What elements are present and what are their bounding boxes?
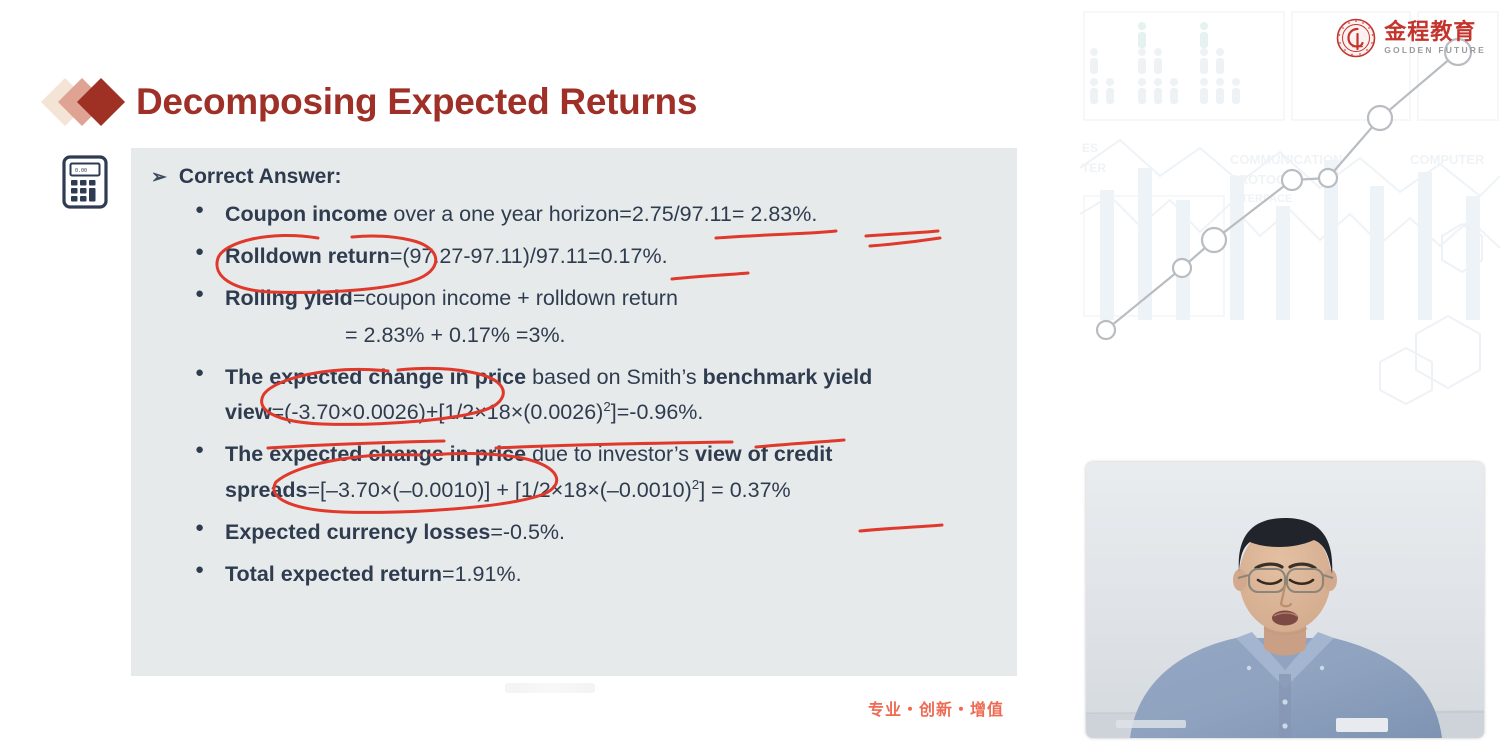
list-item-expected-change-credit: The expected change in price due to inve… — [193, 443, 1005, 502]
list-item-expected-change-benchmark: The expected change in price based on Sm… — [193, 366, 1005, 425]
list-item-coupon-income: Coupon income over a one year horizon=2.… — [193, 203, 1005, 226]
page-title: Decomposing Expected Returns — [136, 81, 697, 123]
credit-formula-line: spreads=[–3.70×(–0.0010)] + [1/2×18×(–0.… — [225, 478, 1005, 502]
bullet-lead-text: The expected change in price — [225, 442, 526, 466]
circular-seal-logo-icon — [1336, 18, 1376, 58]
footer-watermark — [505, 683, 595, 693]
formula-body: =(-3.70×0.0026)+[1/2×18×(0.0026) — [272, 400, 604, 424]
formula-lead: spreads — [225, 478, 307, 502]
logo-chinese-name: 金程教育 — [1384, 21, 1486, 43]
slide-area: Decomposing Expected Returns 0.00 ➢ Corr… — [0, 0, 1080, 750]
title-row: Decomposing Expected Returns — [48, 78, 697, 126]
bullet-rest-text: =-0.5%. — [490, 520, 565, 544]
logo-text-block: 金程教育 GOLDEN FUTURE — [1384, 21, 1486, 55]
bullet-mid-text: due to investor’s — [526, 442, 695, 466]
right-panel: COMMUNICATION PROTOCOL INTERFACE COMPUTE… — [1080, 0, 1500, 750]
list-item-expected-currency-losses: Expected currency losses=-0.5%. — [193, 521, 1005, 544]
brand-logo: 金程教育 GOLDEN FUTURE — [1336, 18, 1486, 58]
list-item-rolldown-return: Rolldown return=(97.27-97.11)/97.11=0.17… — [193, 245, 1005, 268]
svg-text:0.00: 0.00 — [75, 168, 87, 174]
formula-lead: view — [225, 400, 272, 424]
people-pictogram-group — [1090, 22, 1240, 104]
logo-english-name: GOLDEN FUTURE — [1384, 46, 1486, 55]
formula-body: =[–3.70×(–0.0010)] + [1/2×18×(–0.0010) — [307, 478, 691, 502]
formula-exponent: 2 — [603, 399, 610, 414]
bullet-lead-text: The expected change in price — [225, 365, 526, 389]
webcam-frame — [1086, 462, 1484, 738]
formula-result: ]=-0.96%. — [611, 400, 704, 424]
bullet-tail-text: view of credit — [695, 442, 832, 466]
benchmark-formula-line: view=(-3.70×0.0026)+[1/2×18×(0.0026)2]=-… — [225, 400, 1005, 424]
bullet-lead-text: Total expected return — [225, 562, 442, 586]
bullet-tail-text: benchmark yield — [703, 365, 873, 389]
diamond-decoration-icon — [48, 78, 130, 126]
list-item-rolling-yield: Rolling yield=coupon income + rolldown r… — [193, 287, 1005, 346]
bullet-rest-text: over a one year horizon=2.75/97.11= 2.83… — [387, 202, 817, 226]
chart-marker — [1173, 259, 1191, 277]
list-item-total-expected-return: Total expected return=1.91%. — [193, 563, 1005, 586]
arrow-bullet-icon: ➢ — [151, 168, 167, 187]
formula-result: ] = 0.37% — [699, 478, 790, 502]
bullet-list: Coupon income over a one year horizon=2.… — [193, 203, 1005, 606]
calculator-icon: 0.00 — [62, 155, 108, 209]
bullet-lead-text: Expected currency losses — [225, 520, 490, 544]
bullet-rest-text: =coupon income + rolldown return — [353, 286, 678, 310]
bullet-rest-text: =1.91%. — [442, 562, 522, 586]
svg-text:COMPUTER: COMPUTER — [1410, 152, 1485, 167]
rolling-yield-computation: = 2.83% + 0.17% =3%. — [345, 324, 1005, 347]
svg-text:ES: ES — [1082, 141, 1098, 155]
background-infographic-graphics: COMMUNICATION PROTOCOL INTERFACE COMPUTE… — [1080, 0, 1500, 470]
chart-marker — [1319, 169, 1337, 187]
footer-slogan: 专业・创新・增值 — [868, 696, 1004, 720]
instructor-webcam-feed[interactable] — [1086, 462, 1484, 738]
bullet-lead-text: Rolldown return — [225, 244, 390, 268]
chart-marker — [1202, 228, 1226, 252]
bullet-lead-text: Coupon income — [225, 202, 387, 226]
chart-marker — [1368, 106, 1392, 130]
chart-marker — [1282, 170, 1302, 190]
bullet-rest-text: =(97.27-97.11)/97.11=0.17%. — [390, 244, 668, 268]
bullet-lead-text: Rolling yield — [225, 286, 353, 310]
bullet-mid-text: based on Smith’s — [526, 365, 702, 389]
correct-answer-label: Correct Answer: — [179, 165, 342, 189]
chart-marker — [1097, 321, 1115, 339]
correct-answer-heading: ➢ Correct Answer: — [151, 165, 342, 189]
content-box: ➢ Correct Answer: Coupon income over a o… — [131, 148, 1017, 676]
